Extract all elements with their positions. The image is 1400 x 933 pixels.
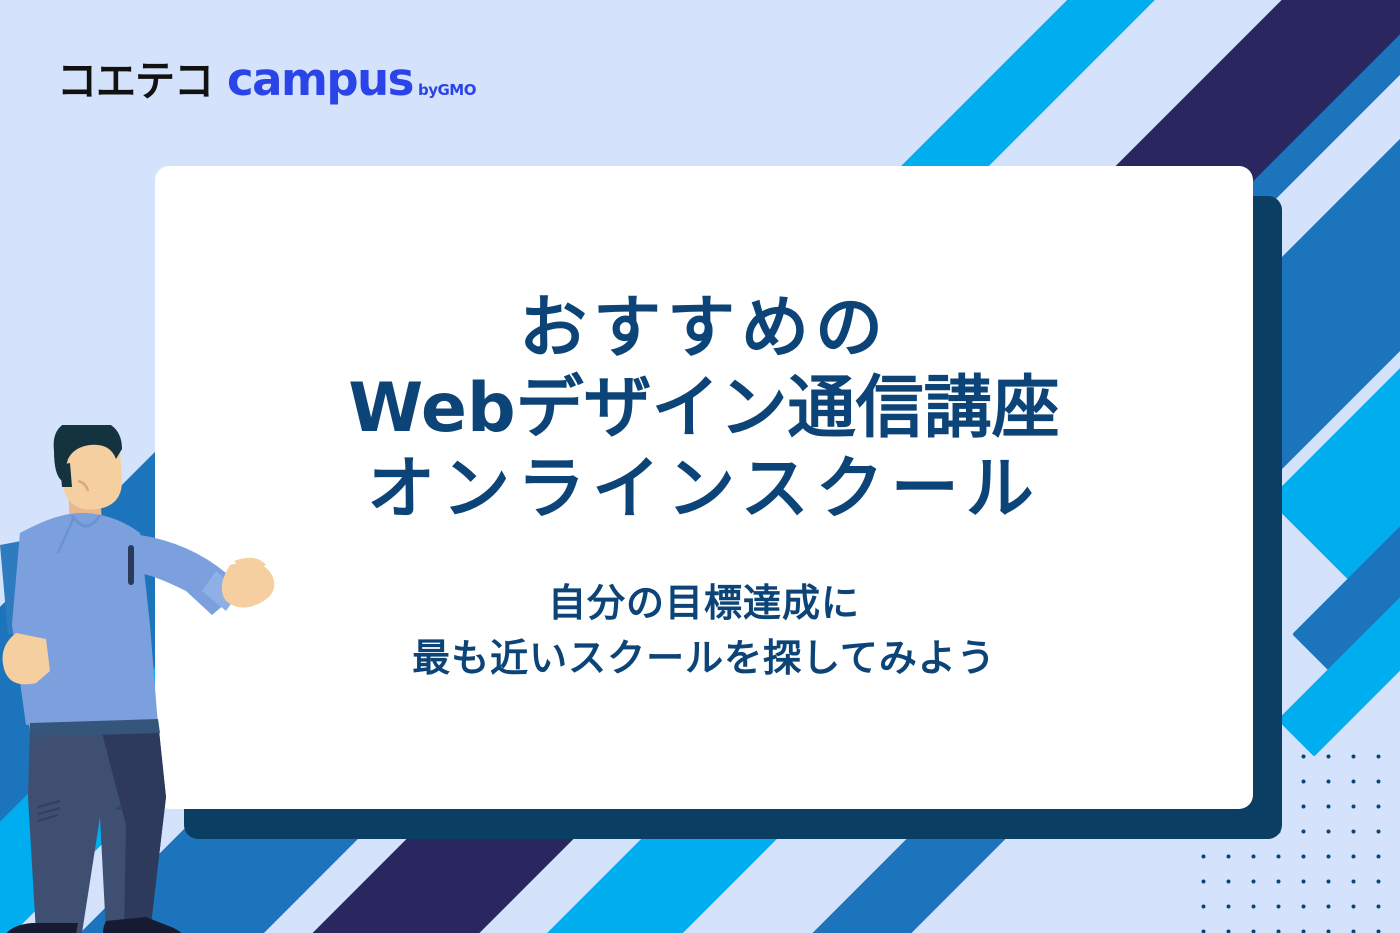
page-subtitle: 自分の目標達成に 最も近いスクールを探してみよう xyxy=(412,576,996,686)
page-title: おすすめの Webデザイン通信講座 オンラインスクール xyxy=(348,289,1059,530)
brand-logo[interactable]: コエテコ campus byGMO xyxy=(57,57,476,102)
stripe-cyan-2 xyxy=(1268,0,1400,585)
subtitle-line-1: 自分の目標達成に xyxy=(412,576,996,631)
subtitle-line-2: 最も近いスクールを探してみよう xyxy=(412,631,996,686)
headline-line-3: オンラインスクール xyxy=(348,450,1059,530)
hero-card: おすすめの Webデザイン通信講座 オンラインスクール 自分の目標達成に 最も近… xyxy=(155,166,1253,809)
logo-koeteco-text: コエテコ xyxy=(57,61,213,103)
headline-line-1: おすすめの xyxy=(348,289,1059,369)
logo-bygmo-text: byGMO xyxy=(418,83,476,102)
logo-campus-group: campus byGMO xyxy=(227,57,476,102)
headline-line-2: Webデザイン通信講座 xyxy=(348,369,1059,449)
stripe-cyan-3 xyxy=(1277,0,1400,757)
hero-banner: コエテコ campus byGMO おすすめの Webデザイン通信講座 オンライ… xyxy=(0,0,1400,933)
logo-campus-text: campus xyxy=(227,57,413,102)
stripe-blue-3 xyxy=(1292,0,1400,701)
